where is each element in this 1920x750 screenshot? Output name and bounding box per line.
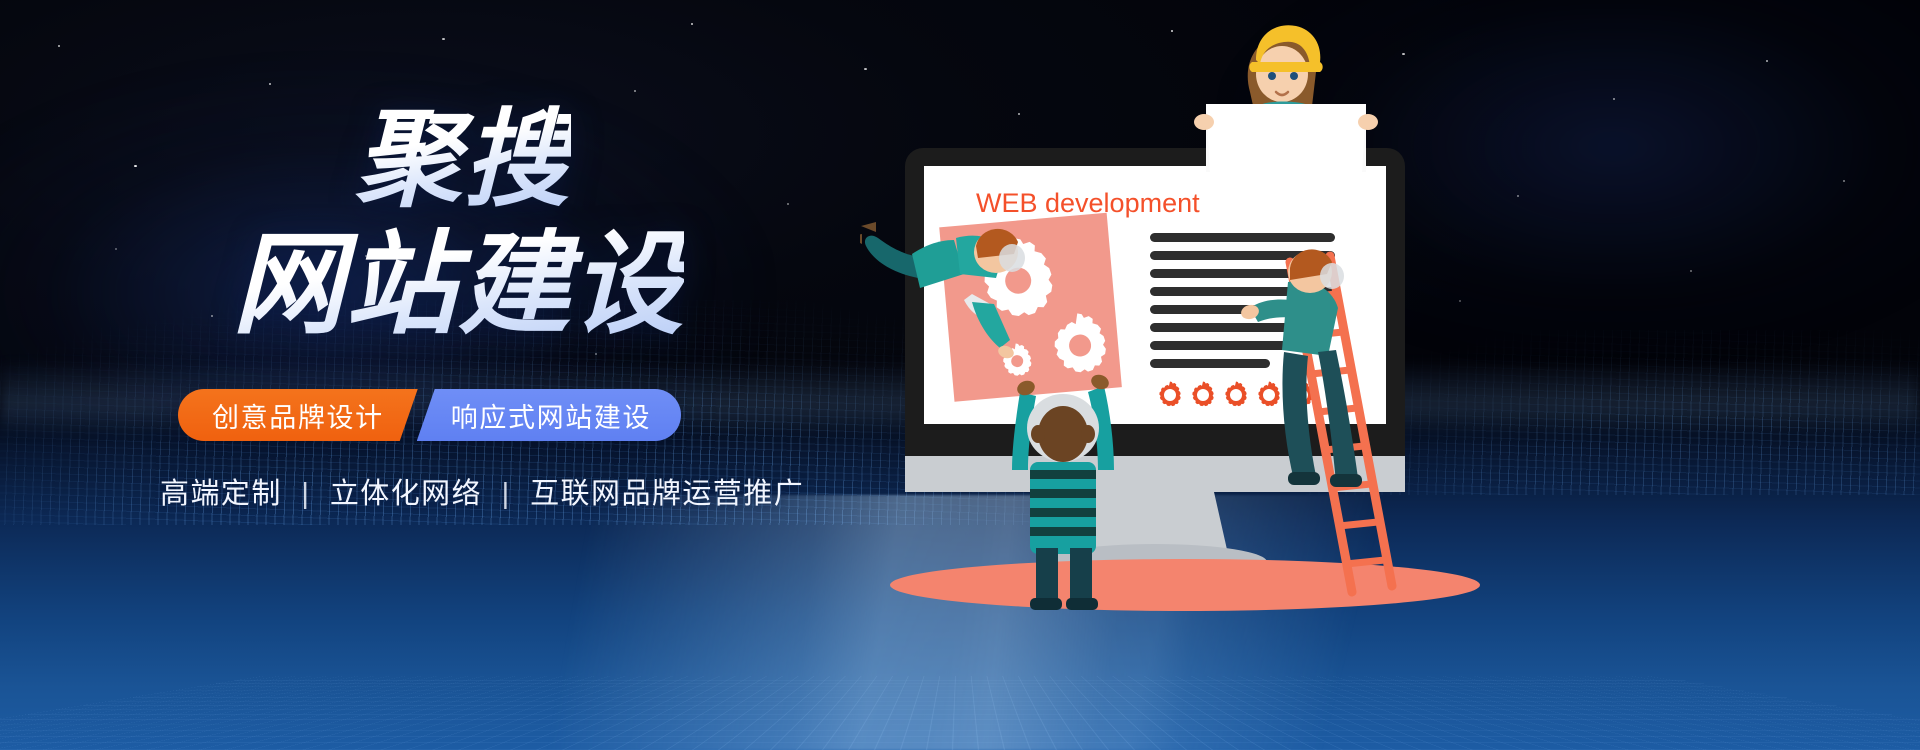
- tagline-separator-2: |: [492, 478, 521, 510]
- pill-creative-brand-design[interactable]: 创意品牌设计: [178, 389, 418, 441]
- service-pill-group: 创意品牌设计 响应式网站建设: [178, 389, 681, 441]
- tagline-separator-1: |: [291, 478, 320, 510]
- screen-title: WEB development: [976, 188, 1200, 218]
- page-title: 网站建设: [232, 226, 684, 344]
- illustration-svg: WEB development: [860, 0, 1920, 750]
- monitor-bottom-bezel: [924, 424, 1386, 456]
- tagline-item-1: 高端定制: [160, 478, 282, 510]
- brand-title: 聚搜: [355, 105, 571, 216]
- pill-responsive-website[interactable]: 响应式网站建设: [417, 389, 681, 441]
- tagline-item-3: 互联网品牌运营推广: [530, 478, 804, 510]
- tagline-item-2: 立体化网络: [330, 478, 482, 510]
- monitor-illustration: WEB development: [860, 0, 1920, 750]
- headline-block: 聚搜 网站建设 创意品牌设计 响应式网站建设 高端定制 | 立体化网络 | 互联…: [0, 0, 900, 750]
- web-development-banner: 聚搜 网站建设 创意品牌设计 响应式网站建设 高端定制 | 立体化网络 | 互联…: [0, 0, 1920, 750]
- tagline: 高端定制 | 立体化网络 | 互联网品牌运营推广: [160, 470, 804, 512]
- figure-hardhat-engineer: [1194, 25, 1378, 174]
